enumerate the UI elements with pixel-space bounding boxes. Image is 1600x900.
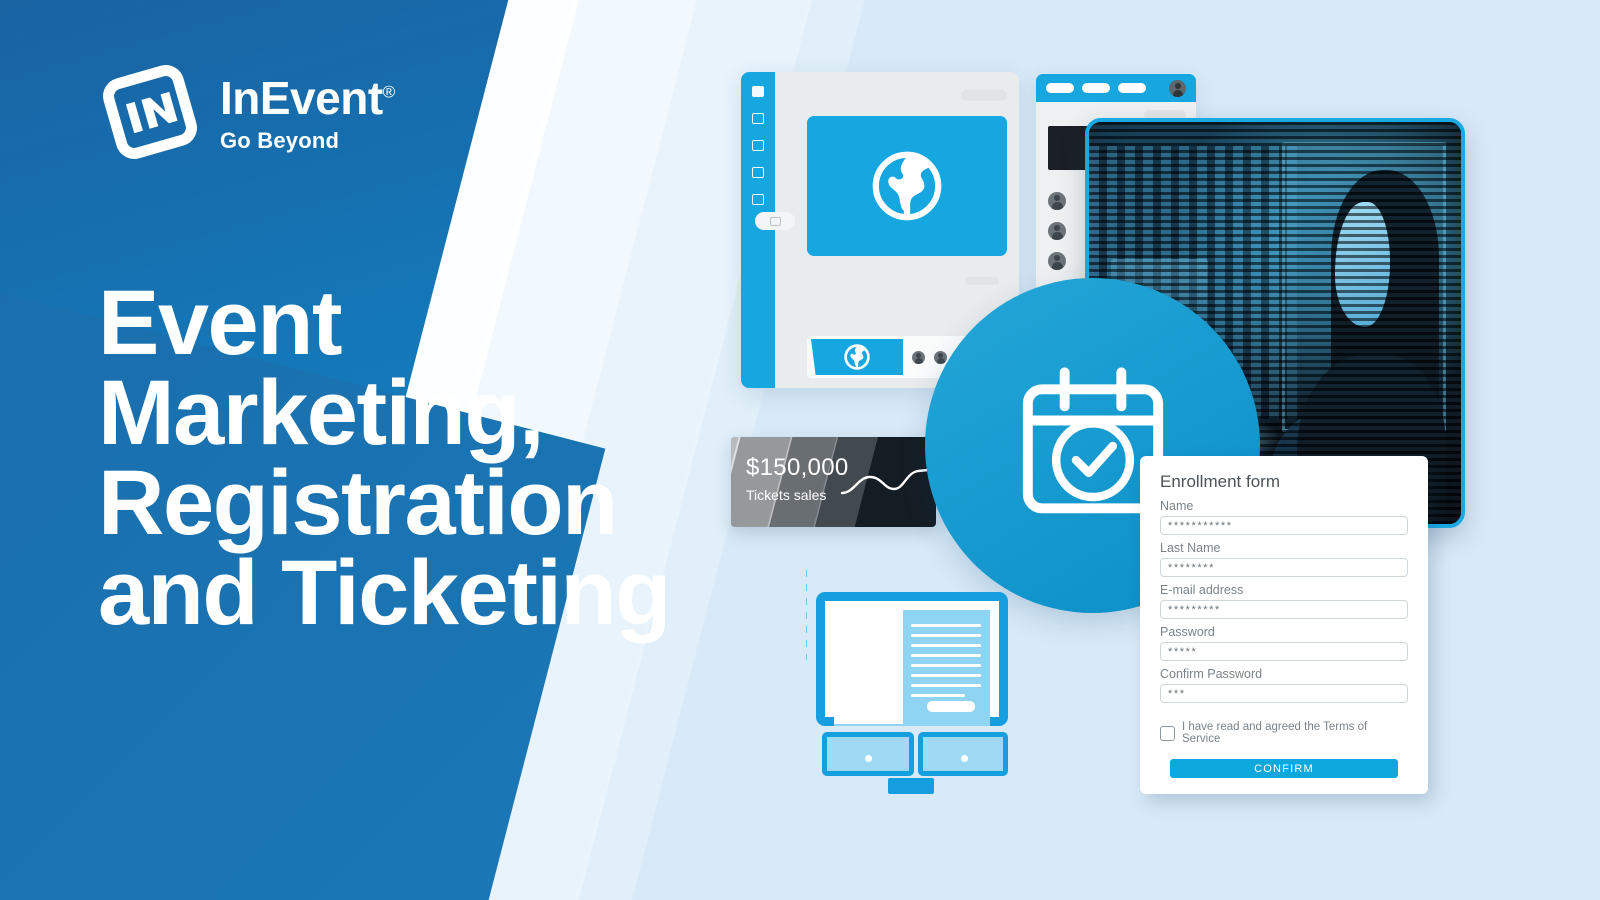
- enrollment-form[interactable]: Enrollment form Name *********** Last Na…: [1140, 456, 1428, 794]
- placeholder-bar: [965, 277, 999, 285]
- registered-mark: ®: [383, 82, 395, 101]
- camera-icon: [752, 167, 764, 178]
- keyboard-left: [822, 732, 914, 776]
- inevent-logo-icon: [98, 60, 202, 164]
- terms-row[interactable]: I have read and agreed the Terms of Serv…: [1160, 721, 1408, 745]
- terms-checkbox[interactable]: [1160, 726, 1175, 741]
- attendee-avatar-icon: [1048, 192, 1066, 210]
- page-title: Event Marketing, Registration and Ticket…: [98, 278, 738, 639]
- headline-line-1: Event: [98, 278, 738, 368]
- globe-icon: [842, 342, 872, 372]
- button-placeholder-icon: [927, 701, 975, 712]
- participant-avatar-icon: [912, 351, 925, 364]
- headline-line-4: and Ticketing: [98, 548, 738, 638]
- form-title: Enrollment form: [1160, 472, 1408, 492]
- last-name-input[interactable]: ********: [1160, 558, 1408, 577]
- monitor-stand: [888, 778, 934, 794]
- ticket-sales-label: Tickets sales: [746, 487, 826, 503]
- nav-pill-2: [1082, 83, 1110, 93]
- password-label: Password: [1160, 625, 1408, 639]
- name-label: Name: [1160, 499, 1408, 513]
- participant-avatar-icon: [934, 351, 947, 364]
- globe-icon: [868, 147, 946, 225]
- confirm-button[interactable]: CONFIRM: [1170, 759, 1398, 778]
- promo-banner: InEvent® Go Beyond Event Marketing, Regi…: [0, 0, 1600, 900]
- keyboard-row: [822, 732, 1008, 776]
- folder-icon: [752, 113, 764, 124]
- brand-name: InEvent®: [220, 75, 395, 121]
- keyboard-right: [918, 732, 1008, 776]
- headline-line-3: Registration: [98, 458, 738, 548]
- email-input[interactable]: *********: [1160, 600, 1408, 619]
- text-block-pane: [903, 610, 990, 726]
- ticket-sales-card: $150,000 Tickets sales: [731, 437, 936, 527]
- name-input[interactable]: ***********: [1160, 516, 1408, 535]
- monitor-icon: [755, 212, 795, 230]
- app-sidebar: [741, 72, 775, 388]
- user-avatar-icon: [1169, 80, 1186, 97]
- brand-tagline: Go Beyond: [220, 128, 395, 154]
- layout-icon: [752, 194, 764, 205]
- nav-pill-1: [1046, 83, 1074, 93]
- last-name-label: Last Name: [1160, 541, 1408, 555]
- terms-label: I have read and agreed the Terms of Serv…: [1182, 721, 1408, 745]
- window-nav-bar: [1036, 74, 1196, 102]
- wave-line-icon: [840, 465, 930, 499]
- attendee-avatar-icon: [1048, 252, 1066, 270]
- dashed-guide: [806, 570, 807, 660]
- brand-name-label: InEvent: [220, 72, 383, 124]
- email-label: E-mail address: [1160, 583, 1408, 597]
- monitor-bezel: [816, 592, 1008, 726]
- password-input[interactable]: *****: [1160, 642, 1408, 661]
- session-thumbnail: [811, 339, 903, 375]
- confirm-password-input[interactable]: ***: [1160, 684, 1408, 703]
- brand-text: InEvent® Go Beyond: [220, 71, 395, 154]
- brand-logo: InEvent® Go Beyond: [98, 60, 395, 164]
- stage-screen: [807, 116, 1007, 256]
- video-icon: [752, 140, 764, 151]
- nav-pill-3: [1118, 83, 1146, 93]
- desktop-illustration: [816, 592, 1016, 797]
- headline-line-2: Marketing,: [98, 368, 738, 458]
- placeholder-bar: [961, 90, 1007, 101]
- ticket-sales-value: $150,000: [746, 454, 849, 482]
- confirm-password-label: Confirm Password: [1160, 667, 1408, 681]
- attendee-avatar-icon: [1048, 222, 1066, 240]
- dashboard-icon: [752, 86, 764, 97]
